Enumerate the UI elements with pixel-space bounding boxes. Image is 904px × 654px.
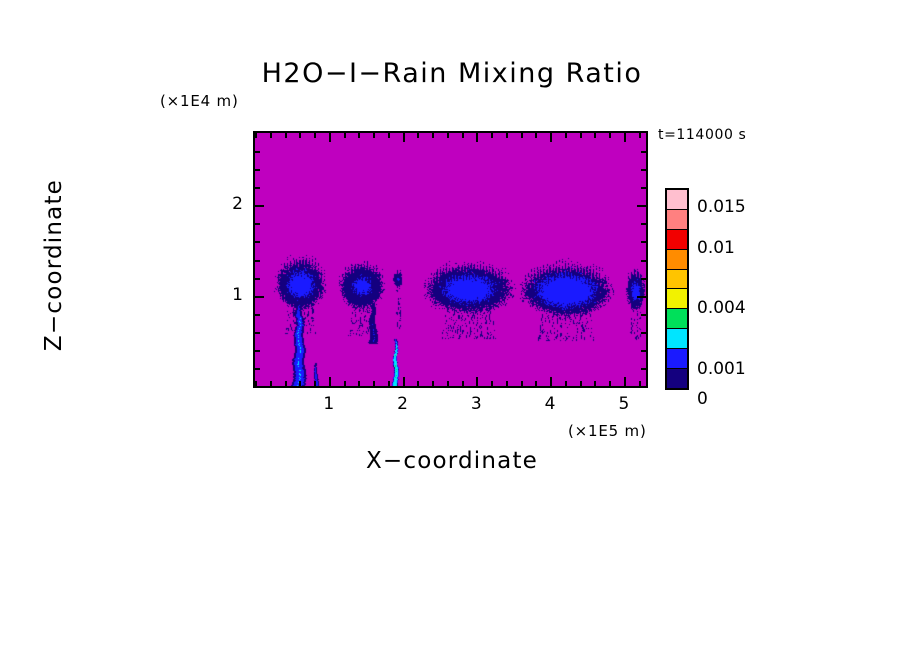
heatmap-canvas	[255, 133, 646, 386]
x-minor-tick	[417, 133, 419, 138]
x-minor-tick	[506, 133, 508, 138]
y-minor-tick-right	[641, 260, 646, 262]
x-minor-tick	[358, 133, 360, 138]
colorbar-band	[667, 368, 687, 388]
colorbar-tick-label: 0	[697, 389, 708, 409]
x-minor-tick	[580, 133, 582, 138]
x-minor-tick-bottom	[462, 381, 464, 386]
x-axis-unit-label: (×1E5 m)	[568, 422, 647, 440]
y-tick-label: 2	[213, 194, 243, 214]
colorbar-band	[667, 229, 687, 249]
x-minor-tick	[565, 133, 567, 138]
heatmap-plot-area	[253, 131, 648, 388]
y-minor-tick	[255, 368, 260, 370]
x-minor-tick	[521, 133, 523, 138]
x-tick-label: 1	[309, 394, 349, 414]
x-minor-tick-bottom	[432, 381, 434, 386]
y-minor-tick-right	[641, 350, 646, 352]
y-minor-tick	[255, 151, 260, 153]
x-minor-tick-bottom	[388, 381, 390, 386]
x-minor-tick	[535, 133, 537, 138]
colorbar-band	[667, 209, 687, 229]
x-major-tick	[329, 133, 331, 142]
x-axis-title: X−coordinate	[0, 448, 904, 474]
x-minor-tick	[255, 133, 257, 138]
x-minor-tick-bottom	[373, 381, 375, 386]
y-major-tick	[255, 205, 264, 207]
x-tick-label: 4	[530, 394, 570, 414]
y-minor-tick	[255, 260, 260, 262]
x-minor-tick-bottom	[447, 381, 449, 386]
colorbar-band	[667, 190, 687, 209]
x-minor-tick-bottom	[521, 381, 523, 386]
y-minor-tick-right	[641, 332, 646, 334]
x-minor-tick-bottom	[565, 381, 567, 386]
x-major-tick-bottom	[403, 377, 405, 386]
y-major-tick	[255, 296, 264, 298]
y-minor-tick-right	[641, 187, 646, 189]
y-minor-tick-right	[641, 169, 646, 171]
colorbar-tick-label: 0.01	[697, 238, 735, 258]
x-minor-tick-bottom	[535, 381, 537, 386]
y-minor-tick	[255, 386, 260, 388]
y-minor-tick-right	[641, 223, 646, 225]
x-minor-tick-bottom	[299, 381, 301, 386]
x-minor-tick-bottom	[594, 381, 596, 386]
x-minor-tick-bottom	[506, 381, 508, 386]
colorbar-tick-label: 0.015	[697, 197, 746, 217]
x-minor-tick-bottom	[344, 381, 346, 386]
x-minor-tick-bottom	[270, 381, 272, 386]
y-minor-tick	[255, 314, 260, 316]
x-major-tick	[403, 133, 405, 142]
colorbar-tick-label: 0.004	[697, 298, 746, 318]
y-major-tick-right	[637, 205, 646, 207]
y-minor-tick-right	[641, 314, 646, 316]
x-minor-tick	[447, 133, 449, 138]
y-minor-tick	[255, 169, 260, 171]
x-major-tick-bottom	[329, 377, 331, 386]
x-minor-tick	[462, 133, 464, 138]
x-minor-tick-bottom	[314, 381, 316, 386]
y-axis-title: Z−coordinate	[41, 115, 67, 415]
y-axis-unit-label: (×1E4 m)	[160, 92, 239, 110]
x-major-tick	[550, 133, 552, 142]
x-minor-tick	[285, 133, 287, 138]
x-minor-tick-bottom	[609, 381, 611, 386]
y-tick-label: 1	[213, 285, 243, 305]
colorbar	[665, 188, 689, 390]
x-major-tick-bottom	[476, 377, 478, 386]
y-minor-tick-right	[641, 278, 646, 280]
x-minor-tick	[270, 133, 272, 138]
x-tick-label: 3	[456, 394, 496, 414]
y-minor-tick	[255, 278, 260, 280]
x-minor-tick-bottom	[417, 381, 419, 386]
x-major-tick-bottom	[624, 377, 626, 386]
x-minor-tick	[299, 133, 301, 138]
colorbar-band	[667, 288, 687, 308]
y-minor-tick-right	[641, 386, 646, 388]
page-title: H2O−I−Rain Mixing Ratio	[0, 58, 904, 89]
colorbar-band	[667, 249, 687, 269]
y-minor-tick-right	[641, 368, 646, 370]
y-minor-tick	[255, 350, 260, 352]
x-major-tick	[476, 133, 478, 142]
x-minor-tick-bottom	[285, 381, 287, 386]
y-minor-tick	[255, 332, 260, 334]
x-major-tick	[624, 133, 626, 142]
colorbar-band	[667, 328, 687, 348]
y-minor-tick-right	[641, 151, 646, 153]
x-minor-tick	[373, 133, 375, 138]
x-minor-tick	[594, 133, 596, 138]
x-minor-tick	[314, 133, 316, 138]
x-tick-label: 2	[383, 394, 423, 414]
figure-root: H2O−I−Rain Mixing Ratio (×1E4 m) t=11400…	[0, 0, 904, 654]
x-minor-tick	[432, 133, 434, 138]
x-minor-tick	[388, 133, 390, 138]
colorbar-band	[667, 348, 687, 368]
colorbar-tick-label: 0.001	[697, 359, 746, 379]
x-tick-label: 5	[604, 394, 644, 414]
y-minor-tick	[255, 187, 260, 189]
y-major-tick-right	[637, 296, 646, 298]
colorbar-band	[667, 269, 687, 289]
x-minor-tick	[344, 133, 346, 138]
x-minor-tick-bottom	[580, 381, 582, 386]
timestamp-annotation: t=114000 s	[658, 127, 746, 143]
x-minor-tick	[609, 133, 611, 138]
y-minor-tick	[255, 241, 260, 243]
colorbar-band	[667, 308, 687, 328]
y-minor-tick	[255, 223, 260, 225]
x-minor-tick-bottom	[491, 381, 493, 386]
x-minor-tick	[639, 133, 641, 138]
x-major-tick-bottom	[550, 377, 552, 386]
y-minor-tick-right	[641, 241, 646, 243]
x-minor-tick	[491, 133, 493, 138]
x-minor-tick-bottom	[358, 381, 360, 386]
